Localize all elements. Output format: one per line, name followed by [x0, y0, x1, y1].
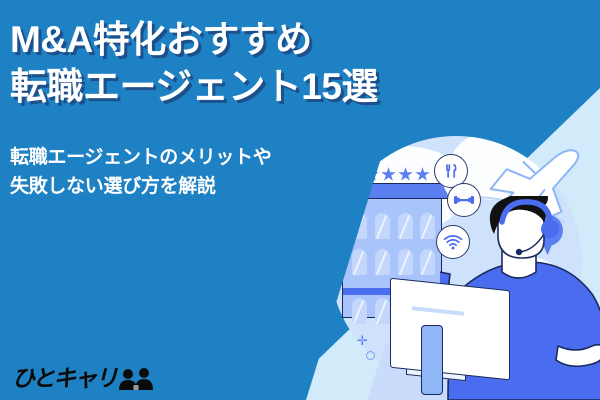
- smartphone: [421, 325, 443, 395]
- brand-logo-text: ひとキャリ: [12, 367, 116, 390]
- star-icon: [415, 167, 430, 182]
- subtitle-line-2: 失敗しない選び方を解説: [10, 172, 370, 201]
- star-icon: [381, 167, 396, 182]
- title-line-2: 転職エージェント15選: [10, 63, 530, 110]
- subtitle-line-1: 転職エージェントのメリットや: [10, 143, 370, 172]
- title-line-1: M&A特化おすすめ: [10, 16, 530, 63]
- circle-decoration: [366, 351, 375, 360]
- banner-canvas: ✛ M&A特化おすすめ 転職エージェント15選 転職エージェントのメリットや 失…: [0, 0, 600, 400]
- monitor-screen: [390, 278, 510, 381]
- sparkle-decoration: ✛: [357, 334, 368, 347]
- two-people-icon: [119, 368, 155, 390]
- page-subtitle: 転職エージェントのメリットや 失敗しない選び方を解説: [10, 143, 370, 202]
- star-icon: [398, 167, 413, 182]
- brand-logo[interactable]: ひとキャリ: [12, 367, 155, 390]
- page-title: M&A特化おすすめ 転職エージェント15選: [10, 16, 530, 111]
- desktop-monitor: [390, 284, 510, 374]
